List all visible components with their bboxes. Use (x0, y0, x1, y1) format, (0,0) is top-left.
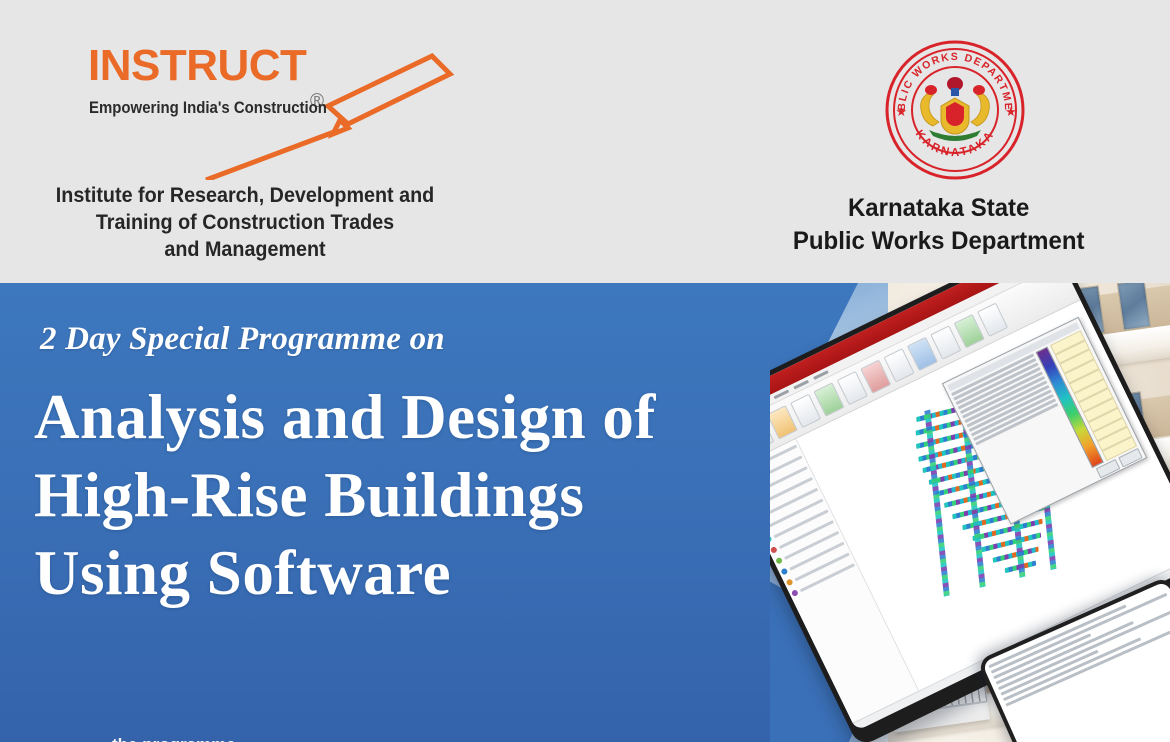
department-name: Karnataka State Public Works Department (749, 192, 1162, 258)
institute-name-line-3: and Management (15, 236, 476, 263)
karnataka-pwd-block: PUBLIC WORKS DEPARTMENT KARNATAKA ★ ★ (740, 0, 1170, 283)
svg-text:★: ★ (896, 104, 908, 119)
banner-header: INSTRUCT ® Empowering India's Constructi… (0, 0, 1170, 283)
programme-eyebrow: 2 Day Special Programme on (40, 323, 794, 356)
institute-name: Institute for Research, Development and … (15, 182, 476, 263)
department-name-line-2: Public Works Department (749, 225, 1129, 258)
instruct-logo: INSTRUCT ® Empowering India's Constructi… (88, 44, 468, 174)
programme-title-line-3: Using Software (34, 534, 794, 612)
instruct-tagline: Empowering India's Construction (89, 99, 327, 116)
programme-title: Analysis and Design of High-Rise Buildin… (34, 378, 794, 612)
svg-text:★: ★ (1005, 104, 1017, 119)
artwork-collage (770, 283, 1170, 742)
institute-name-line-2: Training of Construction Trades (15, 209, 476, 236)
instruct-brand-block: INSTRUCT ® Empowering India's Constructi… (0, 0, 520, 283)
institute-name-line-1: Institute for Research, Development and (15, 182, 476, 209)
programme-title-line-2: High-Rise Buildings (34, 456, 794, 534)
programme-banner: INSTRUCT ® Empowering India's Constructi… (0, 0, 1170, 742)
programme-copy: 2 Day Special Programme on Analysis and … (34, 323, 794, 612)
karnataka-pwd-seal-icon: PUBLIC WORKS DEPARTMENT KARNATAKA ★ ★ (883, 38, 1027, 182)
footer-clipped-label: the programme (112, 736, 612, 742)
instruct-wordmark: INSTRUCT (88, 44, 306, 88)
programme-title-line-1: Analysis and Design of (34, 378, 794, 456)
footer-clipped-text: the programme (112, 736, 612, 742)
banner-body: 2 Day Special Programme on Analysis and … (0, 283, 1170, 742)
department-name-line-1: Karnataka State (749, 192, 1129, 225)
